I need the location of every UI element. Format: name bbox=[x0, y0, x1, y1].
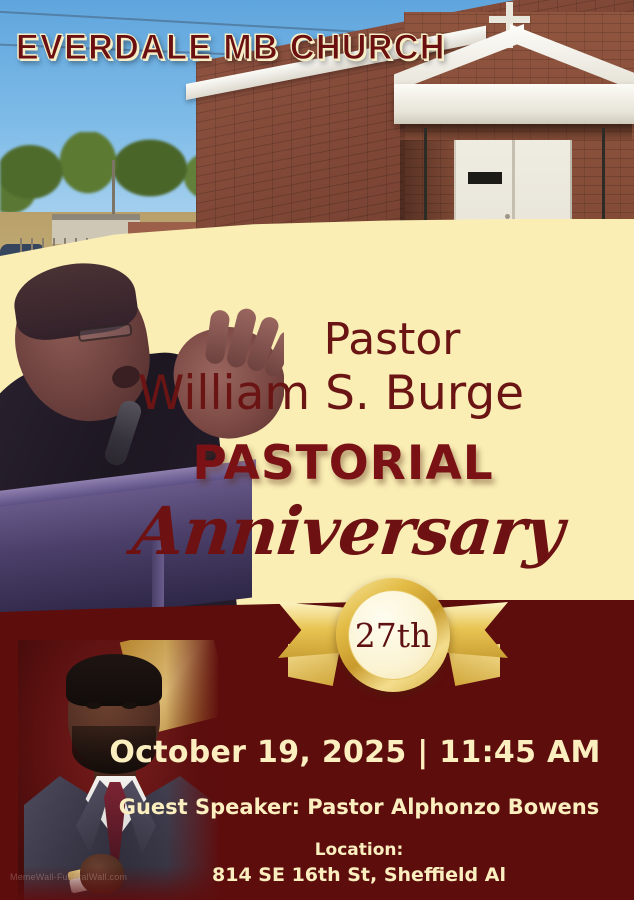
event-date-time: October 19, 2025 | 11:45 AM bbox=[0, 735, 634, 770]
guest-eye bbox=[86, 702, 101, 709]
roof-cross-icon bbox=[489, 16, 530, 23]
door-mail-slot bbox=[468, 172, 502, 184]
honoree-name: William S. Burge bbox=[0, 366, 634, 421]
gold-ribbon-seal: 27th bbox=[278, 578, 508, 688]
anniversary-number: 27th bbox=[355, 616, 432, 655]
door-knob bbox=[505, 214, 510, 219]
badge-inner-disc: 27th bbox=[348, 590, 438, 680]
event-script-word: Anniversary bbox=[0, 492, 634, 570]
portico-shadow bbox=[400, 124, 632, 140]
guest-eye bbox=[122, 702, 137, 709]
honoree-title: Pastor bbox=[0, 314, 634, 365]
location-label: Location: bbox=[0, 840, 634, 860]
guest-speaker-line: Guest Speaker: Pastor Alphonzo Bowens bbox=[0, 795, 634, 819]
page-title: EVERDALE MB CHURCH bbox=[16, 28, 446, 68]
watermark: MemeWall-FuneralWall.com bbox=[10, 872, 127, 882]
portico-band bbox=[394, 84, 634, 124]
church-anniversary-flyer: EVERDALE MB CHURCH Pastor William S. Bur… bbox=[0, 0, 634, 900]
event-word: PASTORIAL bbox=[0, 436, 634, 491]
guest-speaker-portrait-photo bbox=[18, 640, 218, 900]
portrait-right-fade bbox=[166, 640, 218, 900]
guest-hair bbox=[66, 654, 162, 706]
